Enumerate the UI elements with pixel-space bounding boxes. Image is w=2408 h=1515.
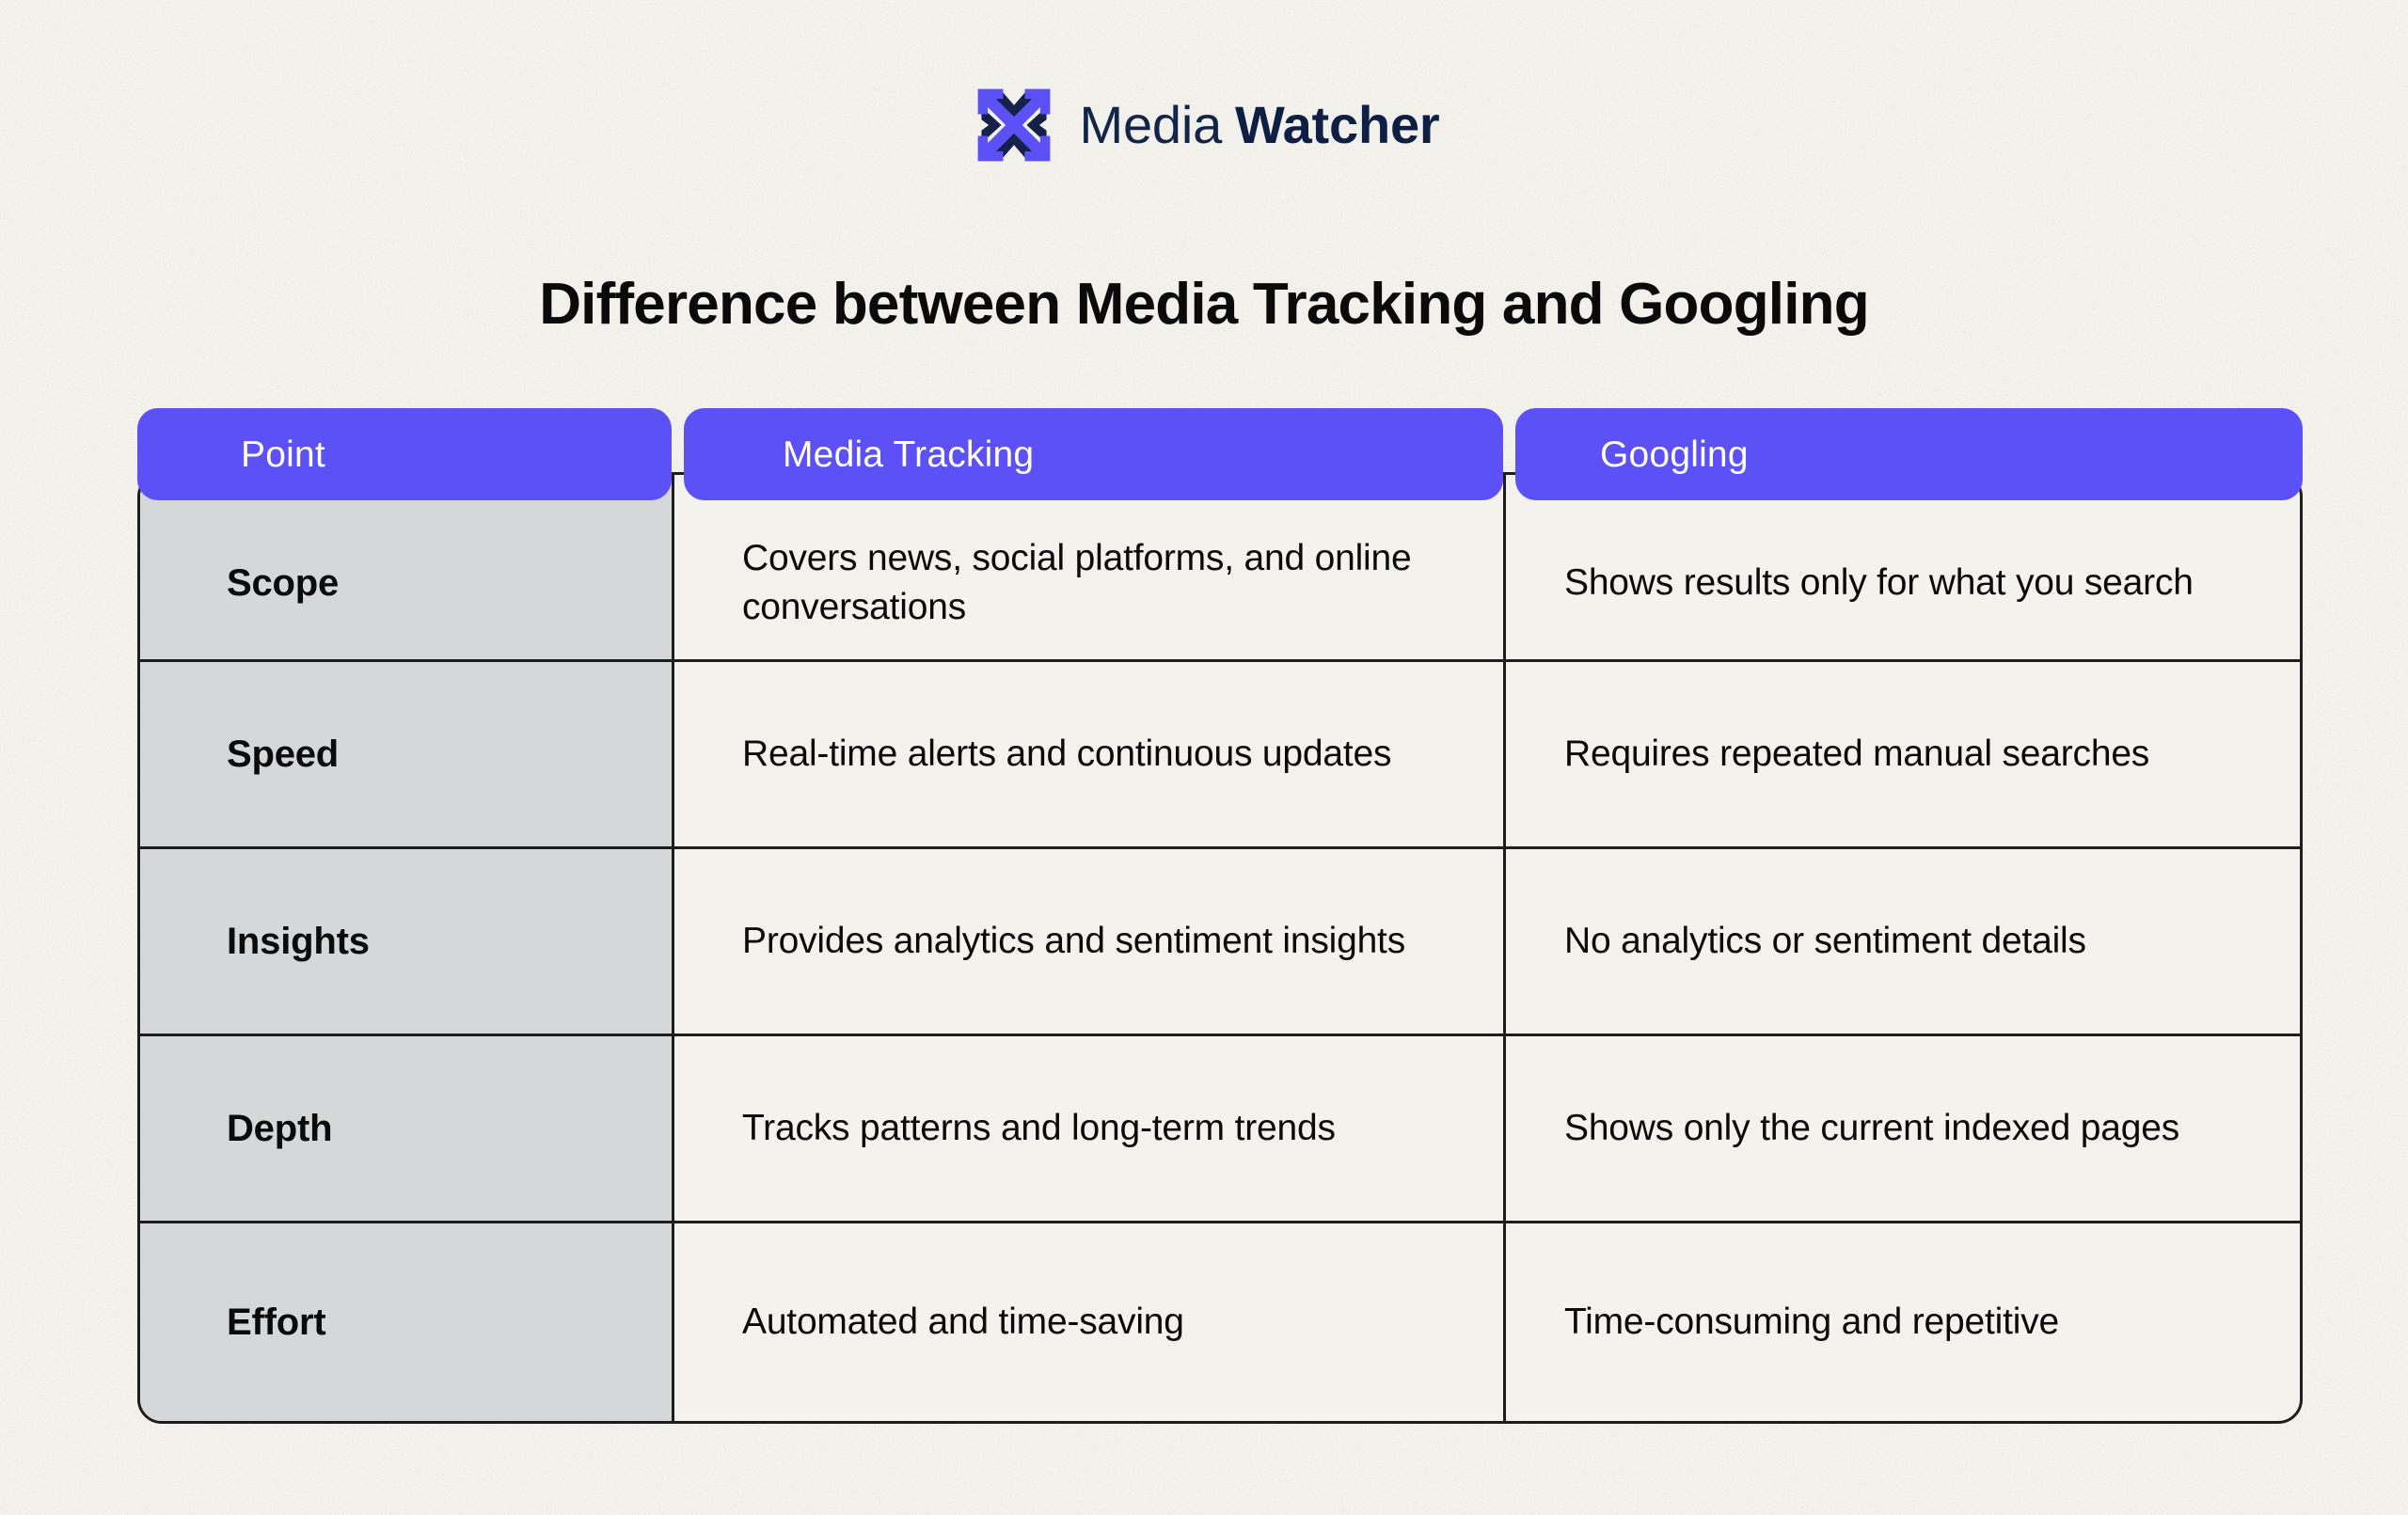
brand-lockup: MediaWatcher	[0, 80, 2408, 170]
table-cell-media-tracking: Automated and time-saving	[674, 1223, 1506, 1421]
table-cell-googling: No analytics or sentiment details	[1506, 849, 2300, 1034]
table-row: Depth Tracks patterns and long-term tren…	[140, 1036, 2300, 1223]
table-cell-media-tracking: Tracks patterns and long-term trends	[674, 1036, 1506, 1221]
table-cell-googling-text: Requires repeated manual searches	[1564, 730, 2149, 779]
table-cell-googling-text: No analytics or sentiment details	[1564, 917, 2086, 966]
brand-word-media: Media	[1080, 99, 1223, 151]
page-title: Difference between Media Tracking and Go…	[0, 273, 2408, 337]
table-cell-googling-text: Time-consuming and repetitive	[1564, 1298, 2059, 1347]
table-cell-googling: Shows only the current indexed pages	[1506, 1036, 2300, 1221]
x-arrows-logo-icon	[969, 80, 1059, 170]
table-cell-point-label: Scope	[227, 561, 339, 605]
table-cell-googling: Shows results only for what you search	[1506, 475, 2300, 659]
table-row: Scope Covers news, social platforms, and…	[140, 475, 2300, 662]
table-cell-media-tracking-text: Tracks patterns and long-term trends	[742, 1104, 1336, 1153]
table-cell-point: Effort	[140, 1223, 674, 1421]
table-cell-point: Speed	[140, 662, 674, 846]
table-cell-point-label: Depth	[227, 1107, 332, 1150]
table-header-media-tracking-label: Media Tracking	[783, 436, 1034, 473]
table-cell-media-tracking-text: Automated and time-saving	[742, 1298, 1184, 1347]
table-cell-media-tracking-text: Provides analytics and sentiment insight…	[742, 917, 1405, 966]
table-cell-media-tracking: Covers news, social platforms, and onlin…	[674, 475, 1506, 659]
table-cell-media-tracking-text: Real-time alerts and continuous updates	[742, 730, 1391, 779]
table-header-googling-label: Googling	[1600, 436, 1749, 473]
table-cell-googling-text: Shows only the current indexed pages	[1564, 1104, 2179, 1153]
table-cell-point-label: Effort	[227, 1301, 325, 1344]
table-cell-point: Scope	[140, 475, 674, 659]
table-row: Insights Provides analytics and sentimen…	[140, 849, 2300, 1036]
table-cell-point: Insights	[140, 849, 674, 1034]
brand-name: MediaWatcher	[1080, 99, 1440, 151]
table-cell-googling: Requires repeated manual searches	[1506, 662, 2300, 846]
brand-word-watcher: Watcher	[1235, 99, 1439, 151]
table-body: Scope Covers news, social platforms, and…	[137, 472, 2303, 1424]
table-header-media-tracking: Media Tracking	[684, 408, 1503, 500]
table-cell-point-label: Speed	[227, 733, 339, 776]
table-cell-point: Depth	[140, 1036, 674, 1221]
table-header-point: Point	[137, 408, 672, 500]
table-cell-media-tracking: Real-time alerts and continuous updates	[674, 662, 1506, 846]
table-row: Effort Automated and time-saving Time-co…	[140, 1223, 2300, 1421]
table-cell-point-label: Insights	[227, 920, 370, 963]
table-cell-media-tracking-text: Covers news, social platforms, and onlin…	[742, 534, 1457, 632]
table-header-googling: Googling	[1515, 408, 2303, 500]
table-cell-googling: Time-consuming and repetitive	[1506, 1223, 2300, 1421]
table-cell-googling-text: Shows results only for what you search	[1564, 559, 2194, 608]
table-header-row: Point Media Tracking Googling	[137, 408, 2303, 500]
table-header-point-label: Point	[241, 436, 325, 473]
comparison-table: Point Media Tracking Googling Scope Cove…	[137, 408, 2303, 1424]
table-row: Speed Real-time alerts and continuous up…	[140, 662, 2300, 849]
table-cell-media-tracking: Provides analytics and sentiment insight…	[674, 849, 1506, 1034]
